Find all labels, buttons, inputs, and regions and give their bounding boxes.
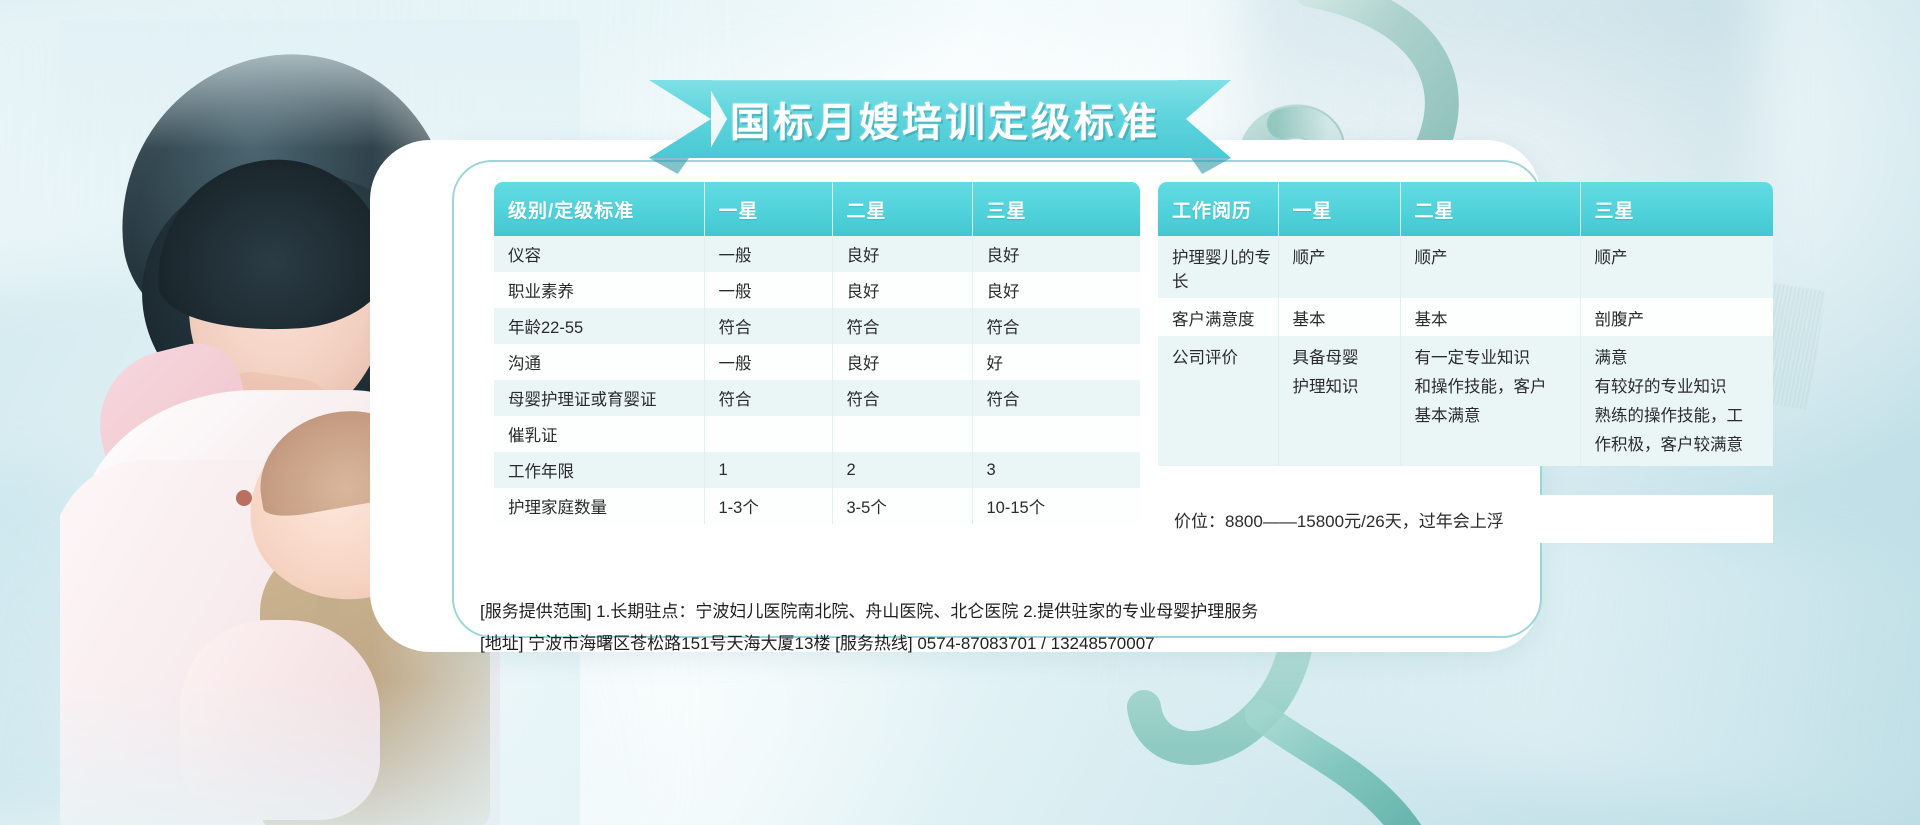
table-row: 催乳证: [494, 416, 1140, 452]
two-star-value: 有一定专业知识和操作技能，客户基本满意: [1400, 336, 1580, 466]
one-star-value: 1: [704, 452, 832, 488]
criteria-label: 职业素养: [494, 272, 704, 308]
two-star-value: 良好: [832, 344, 972, 380]
col-header-criteria: 级别/定级标准: [494, 182, 704, 236]
col-header-three-star: 三星: [972, 182, 1140, 236]
table-row: 仪容一般良好良好: [494, 236, 1140, 272]
criteria-label: 母婴护理证或育婴证: [494, 380, 704, 416]
three-star-value: 符合: [972, 380, 1140, 416]
two-star-value: 2: [832, 452, 972, 488]
price-note: 价位：8800——15800元/26天，过年会上浮: [1158, 495, 1773, 543]
cell-line: 公司评价: [1172, 344, 1278, 373]
table-row: 沟通一般良好好: [494, 344, 1140, 380]
title-banner: 国标月嫂培训定级标准: [705, 80, 1185, 158]
one-star-value: 一般: [704, 344, 832, 380]
banner-title-text: 国标月嫂培训定级标准: [705, 80, 1185, 158]
experience-label: 客户满意度: [1158, 298, 1278, 336]
one-star-value: 具备母婴护理知识: [1278, 336, 1400, 466]
criteria-label: 护理家庭数量: [494, 488, 704, 524]
three-star-value: 良好: [972, 236, 1140, 272]
three-star-value: 满意有较好的专业知识熟练的操作技能，工作积极，客户较满意: [1580, 336, 1773, 466]
three-star-value: 顺产: [1580, 236, 1773, 298]
cell-line: 作积极，客户较满意: [1595, 431, 1774, 460]
two-star-value: 符合: [832, 380, 972, 416]
two-star-value: 顺产: [1400, 236, 1580, 298]
criteria-label: 年龄22-55: [494, 308, 704, 344]
cell-line: 护理知识: [1293, 373, 1400, 402]
table-row: 客户满意度基本基本剖腹产: [1158, 298, 1773, 336]
three-star-value: 良好: [972, 272, 1140, 308]
two-star-value: 符合: [832, 308, 972, 344]
poster-stage: 国标月嫂培训定级标准 级别/定级标准 一星 二星 三星 仪容一般良好良好职业素养…: [0, 0, 1920, 825]
grading-standard-table: 级别/定级标准 一星 二星 三星 仪容一般良好良好职业素养一般良好良好年龄22-…: [494, 182, 1140, 524]
footer-info: [服务提供范围] 1.长期驻点：宁波妇儿医院南北院、舟山医院、北仑医院 2.提供…: [480, 596, 1258, 660]
criteria-label: 工作年限: [494, 452, 704, 488]
cell-line: 满意: [1595, 344, 1774, 373]
footer-service-scope: [服务提供范围] 1.长期驻点：宁波妇儿医院南北院、舟山医院、北仑医院 2.提供…: [480, 596, 1258, 628]
criteria-label: 仪容: [494, 236, 704, 272]
criteria-label: 沟通: [494, 344, 704, 380]
col-header-experience: 工作阅历: [1158, 182, 1278, 236]
work-experience-table: 工作阅历 一星 二星 三星 护理婴儿的专长顺产顺产顺产客户满意度基本基本剖腹产公…: [1158, 182, 1773, 466]
footer-address-hotline: [地址] 宁波市海曙区苍松路151号天海大厦13楼 [服务热线] 0574-87…: [480, 628, 1258, 660]
table-row: 工作年限123: [494, 452, 1140, 488]
cell-line: 有一定专业知识: [1415, 344, 1580, 373]
two-star-value: 良好: [832, 272, 972, 308]
experience-label: 护理婴儿的专长: [1158, 236, 1278, 298]
cell-line: 和操作技能，客户: [1415, 373, 1580, 402]
cell-line: 基本满意: [1415, 402, 1580, 431]
one-star-value: 基本: [1278, 298, 1400, 336]
one-star-value: 符合: [704, 380, 832, 416]
table-row: 护理家庭数量1-3个3-5个10-15个: [494, 488, 1140, 524]
col-header-two-star: 二星: [1400, 182, 1580, 236]
table-header-row: 级别/定级标准 一星 二星 三星: [494, 182, 1140, 236]
table-header-row: 工作阅历 一星 二星 三星: [1158, 182, 1773, 236]
three-star-value: 剖腹产: [1580, 298, 1773, 336]
criteria-label: 催乳证: [494, 416, 704, 452]
table-row: 母婴护理证或育婴证符合符合符合: [494, 380, 1140, 416]
two-star-value: 良好: [832, 236, 972, 272]
three-star-value: 符合: [972, 308, 1140, 344]
one-star-value: 顺产: [1278, 236, 1400, 298]
three-star-value: 好: [972, 344, 1140, 380]
three-star-value: [972, 416, 1140, 452]
cell-line: 有较好的专业知识: [1595, 373, 1774, 402]
one-star-value: 一般: [704, 236, 832, 272]
three-star-value: 10-15个: [972, 488, 1140, 524]
col-header-two-star: 二星: [832, 182, 972, 236]
cell-line: 具备母婴: [1293, 344, 1400, 373]
two-star-value: 基本: [1400, 298, 1580, 336]
col-header-one-star: 一星: [704, 182, 832, 236]
one-star-value: 1-3个: [704, 488, 832, 524]
one-star-value: 符合: [704, 308, 832, 344]
table-row: 年龄22-55符合符合符合: [494, 308, 1140, 344]
one-star-value: 一般: [704, 272, 832, 308]
one-star-value: [704, 416, 832, 452]
two-star-value: [832, 416, 972, 452]
evaluation-label: 公司评价: [1158, 336, 1278, 466]
two-star-value: 3-5个: [832, 488, 972, 524]
three-star-value: 3: [972, 452, 1140, 488]
price-text: 价位：8800——15800元/26天，过年会上浮: [1158, 507, 1504, 532]
table-row-evaluation: 公司评价具备母婴护理知识有一定专业知识和操作技能，客户基本满意满意有较好的专业知…: [1158, 336, 1773, 466]
cell-line: 熟练的操作技能，工: [1595, 402, 1774, 431]
col-header-one-star: 一星: [1278, 182, 1400, 236]
table-row: 护理婴儿的专长顺产顺产顺产: [1158, 236, 1773, 298]
col-header-three-star: 三星: [1580, 182, 1773, 236]
table-row: 职业素养一般良好良好: [494, 272, 1140, 308]
